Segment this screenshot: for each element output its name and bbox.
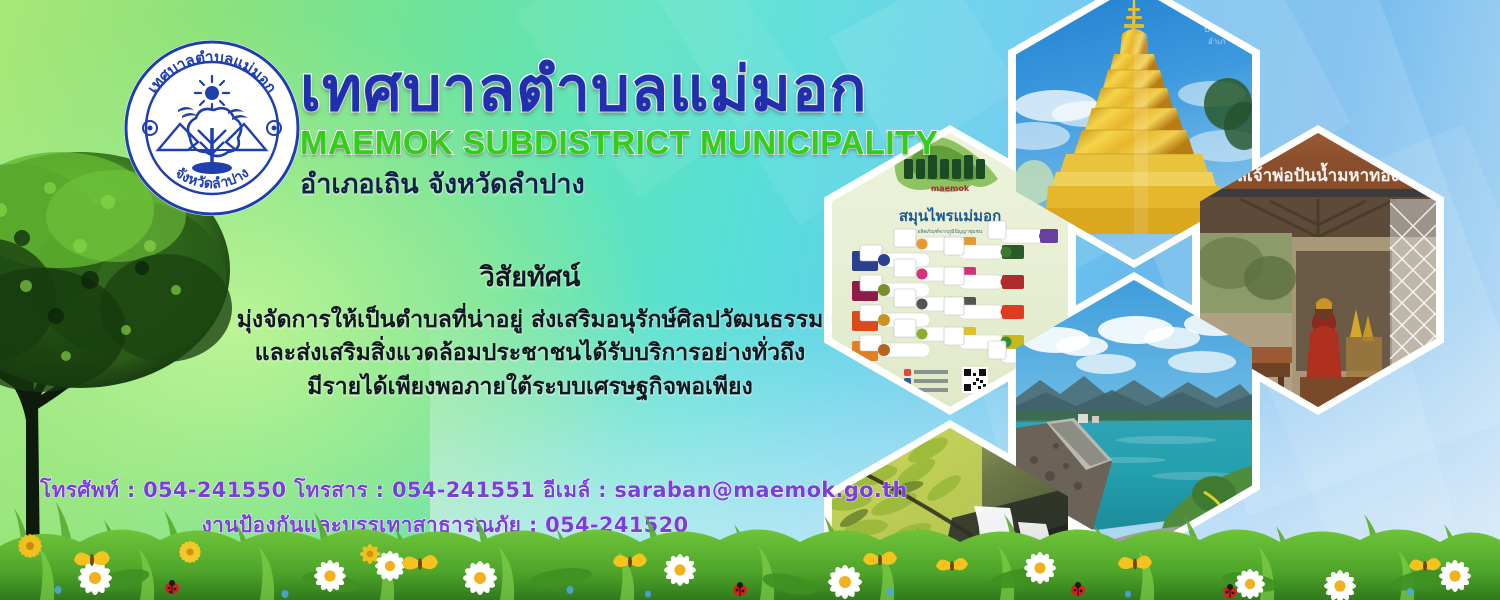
vision-statement: วิสัยทัศน์ มุ่งจัดการให้เป็นตำบลที่น่าอย… [180, 255, 880, 404]
vision-line-2: และส่งเสริมสิ่งแวดล้อมประชาชนได้รับบริกา… [180, 337, 880, 370]
svg-text:สมุนไพรแม่มอก: สมุนไพรแม่มอก [899, 206, 1001, 226]
svg-text:วัดพ: วัดพ [1192, 0, 1222, 12]
page-title-english: MAEMOK SUBDISTRICT MUNICIPALITY [300, 123, 960, 163]
header-text-block: เทศบาลตำบลแม่มอก MAEMOK SUBDISTRICT MUNI… [300, 55, 960, 201]
svg-text:ผลิตภัณฑ์จากภูมิปัญญาชุมชน: ผลิตภัณฑ์จากภูมิปัญญาชุมชน [918, 228, 983, 235]
page-title-thai: เทศบาลตำบลแม่มอก [300, 55, 960, 125]
vision-line-1: มุ่งจัดการให้เป็นตำบลที่น่าอยู่ ส่งเสริม… [180, 304, 880, 337]
page-subtitle-location: อำเภอเถิน จังหวัดลำปาง [300, 168, 960, 202]
svg-text:อำเภ: อำเภ [1208, 37, 1225, 46]
vision-heading: วิสัยทัศน์ [180, 255, 880, 298]
vision-line-3: มีรายได้เพียงพอภายใต้ระบบเศรษฐกิจพอเพียง [180, 371, 880, 404]
grass-flower-border [0, 490, 1500, 600]
municipality-banner: maemok สมุนไพรแม่มอก ผลิตภัณฑ์จากภูมิปัญ… [0, 0, 1500, 600]
municipal-seal-logo[interactable]: เทศบาลตำบลแม่มอก จังหวัดลำปาง [122, 38, 302, 218]
